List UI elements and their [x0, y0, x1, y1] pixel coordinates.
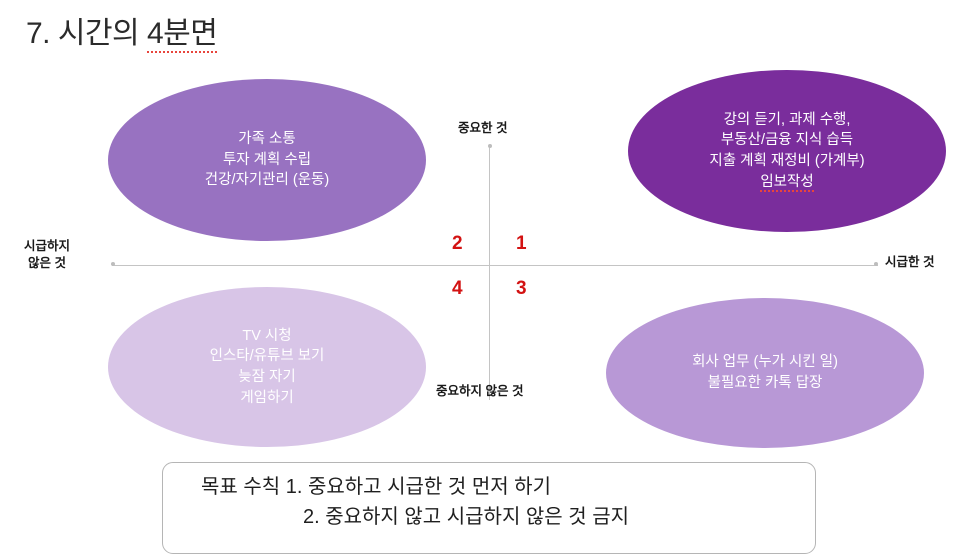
axis-label-top: 중요한 것: [458, 120, 507, 137]
axis-label-left: 시급하지 않은 것: [24, 238, 70, 271]
page-title-prefix: 7. 시간의: [26, 17, 147, 50]
page-title-spellchecked: 4분면: [147, 17, 217, 53]
list-item: 건강/자기관리 (운동): [120, 170, 414, 191]
axis-label-left-line2: 않은 것: [24, 255, 70, 272]
list-item: 가족 소통: [120, 129, 414, 150]
list-item: 인스타/유튜브 보기: [120, 346, 414, 367]
axis-label-left-line1: 시급하지: [24, 238, 70, 255]
page-title: 7. 시간의 4분면: [26, 8, 217, 52]
quadrant-number-2: 2: [452, 233, 463, 255]
axis-label-right: 시급한 것: [885, 254, 934, 271]
quadrant-ellipse-q1[interactable]: 강의 듣기, 과제 수행, 부동산/금융 지식 습득 지출 계획 재정비 (가계…: [628, 70, 946, 232]
vertical-axis-top-arrow-icon: [488, 144, 492, 148]
quadrant-ellipse-q3-text: 회사 업무 (누가 시킨 일) 불필요한 카톡 답장: [606, 352, 924, 393]
quadrant-ellipse-q4[interactable]: TV 시청 인스타/유튜브 보기 늦잠 자기 게임하기: [108, 287, 426, 447]
vertical-axis-line: [489, 146, 490, 400]
quadrant-ellipse-q4-text: TV 시청 인스타/유튜브 보기 늦잠 자기 게임하기: [108, 326, 426, 408]
list-item: 투자 계획 수립: [120, 150, 414, 171]
spellcheck-underlined-text: 임보작성: [760, 174, 813, 192]
quadrant-number-1: 1: [516, 233, 527, 255]
horizontal-axis-right-arrow-icon: [874, 262, 878, 266]
slide-canvas: 7. 시간의 4분면 중요한 것 중요하지 않은 것 시급하지 않은 것 시급한…: [0, 0, 954, 537]
horizontal-axis-line: [112, 265, 878, 266]
quadrant-ellipse-q3[interactable]: 회사 업무 (누가 시킨 일) 불필요한 카톡 답장: [606, 298, 924, 448]
list-item: 불필요한 카톡 답장: [618, 373, 912, 394]
list-item: 부동산/금융 지식 습득: [640, 130, 934, 151]
quadrant-number-3: 3: [516, 278, 527, 300]
horizontal-axis-left-cap-icon: [111, 262, 115, 266]
rule-line-1: 목표 수칙 1. 중요하고 시급한 것 먼저 하기: [163, 472, 815, 502]
quadrant-ellipse-q1-text: 강의 듣기, 과제 수행, 부동산/금융 지식 습득 지출 계획 재정비 (가계…: [628, 110, 946, 192]
list-item: 회사 업무 (누가 시킨 일): [618, 352, 912, 373]
list-item: 지출 계획 재정비 (가계부): [640, 151, 934, 172]
list-item: 게임하기: [120, 388, 414, 409]
axis-label-bottom: 중요하지 않은 것: [436, 383, 523, 400]
rule-line-2: 2. 중요하지 않고 시급하지 않은 것 금지: [163, 502, 815, 532]
list-item-spellchecked: 임보작성: [640, 172, 934, 193]
list-item: TV 시청: [120, 326, 414, 347]
quadrant-ellipse-q2[interactable]: 가족 소통 투자 계획 수립 건강/자기관리 (운동): [108, 79, 426, 241]
list-item: 강의 듣기, 과제 수행,: [640, 110, 934, 131]
quadrant-number-4: 4: [452, 278, 463, 300]
quadrant-ellipse-q2-text: 가족 소통 투자 계획 수립 건강/자기관리 (운동): [108, 129, 426, 191]
list-item: 늦잠 자기: [120, 367, 414, 388]
rules-box: 목표 수칙 1. 중요하고 시급한 것 먼저 하기 2. 중요하지 않고 시급하…: [162, 462, 816, 554]
